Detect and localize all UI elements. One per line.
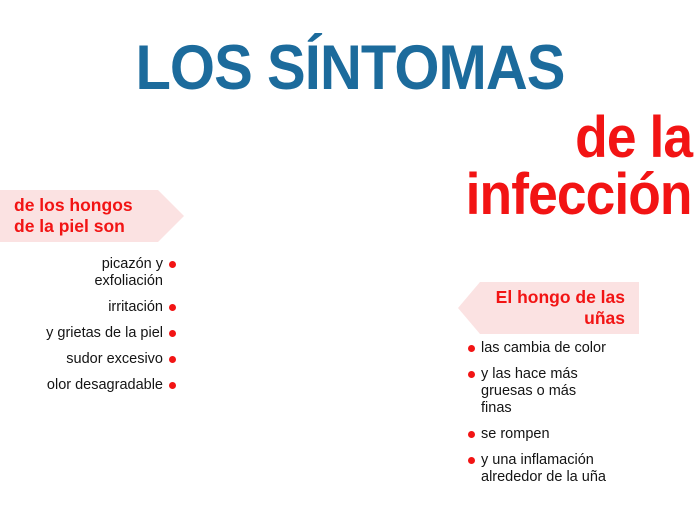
page-title-primary: LOS SÍNTOMAS bbox=[28, 36, 672, 100]
list-item-label: picazón y exfoliación bbox=[94, 256, 163, 290]
bullet-dot-icon bbox=[468, 345, 475, 352]
bullet-dot-icon bbox=[169, 382, 176, 389]
list-item-label: y grietas de la piel bbox=[46, 325, 163, 342]
left-section-banner-label: de los hongos de la piel son bbox=[14, 195, 154, 237]
list-item-label: irritación bbox=[108, 299, 163, 316]
list-item: y grietas de la piel bbox=[0, 325, 176, 342]
list-item-label: sudor excesivo bbox=[66, 351, 163, 368]
list-item: se rompen bbox=[468, 426, 688, 443]
page-title-secondary-line2: infección bbox=[466, 165, 692, 225]
bullet-dot-icon bbox=[468, 457, 475, 464]
list-item-label: y las hace más gruesas o más finas bbox=[481, 366, 578, 417]
infographic-canvas: LOS SÍNTOMAS de la infección de los hong… bbox=[0, 0, 700, 521]
list-item-label: las cambia de color bbox=[481, 340, 606, 357]
left-symptom-list: picazón y exfoliación irritación y griet… bbox=[0, 256, 176, 403]
bullet-dot-icon bbox=[169, 356, 176, 363]
list-item: las cambia de color bbox=[468, 340, 688, 357]
list-item: olor desagradable bbox=[0, 377, 176, 394]
list-item: picazón y exfoliación bbox=[0, 256, 176, 290]
bullet-dot-icon bbox=[468, 371, 475, 378]
right-symptom-list: las cambia de color y las hace más grues… bbox=[468, 340, 688, 495]
list-item: irritación bbox=[0, 299, 176, 316]
bullet-dot-icon bbox=[169, 330, 176, 337]
bullet-dot-icon bbox=[169, 261, 176, 268]
list-item: y las hace más gruesas o más finas bbox=[468, 366, 688, 417]
bullet-dot-icon bbox=[169, 304, 176, 311]
left-section-banner: de los hongos de la piel son bbox=[0, 190, 184, 242]
list-item: sudor excesivo bbox=[0, 351, 176, 368]
list-item-label: se rompen bbox=[481, 426, 550, 443]
bullet-dot-icon bbox=[468, 431, 475, 438]
right-section-banner-label: El hongo de las uñas bbox=[488, 287, 625, 329]
page-title-secondary-line1: de la bbox=[575, 108, 692, 168]
list-item-label: y una inflamación alrededor de la uña bbox=[481, 452, 606, 486]
list-item-label: olor desagradable bbox=[47, 377, 163, 394]
list-item: y una inflamación alrededor de la uña bbox=[468, 452, 688, 486]
right-section-banner: El hongo de las uñas bbox=[458, 282, 639, 334]
